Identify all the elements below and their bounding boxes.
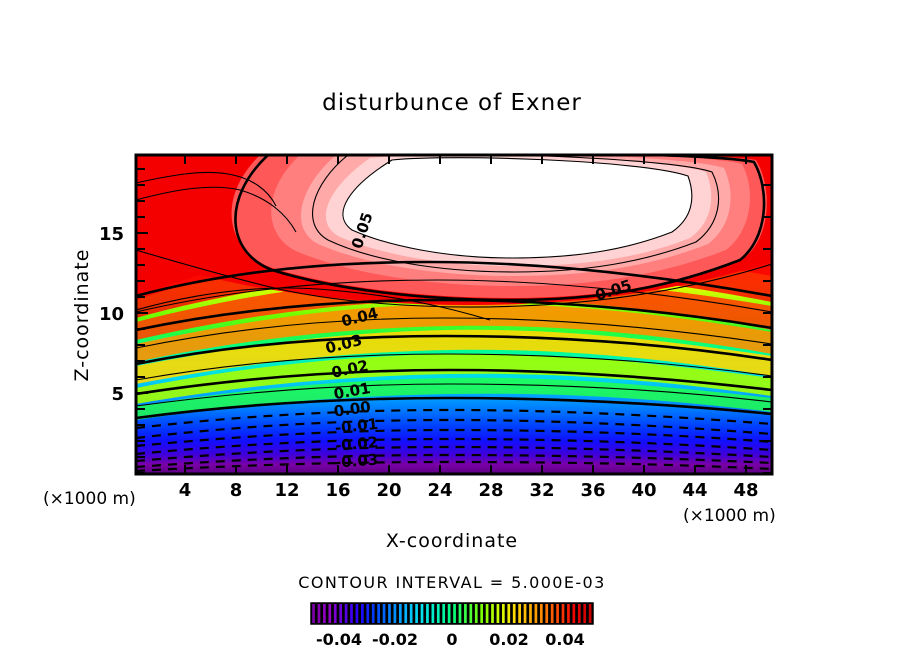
colorbar-band	[350, 604, 353, 623]
x-tick-label: 24	[427, 480, 452, 501]
x-tick-labels: 4 8 12 16 20 24 28 32 36 40 44 48	[179, 480, 759, 501]
colorbar-band	[583, 604, 586, 623]
contour-label--0.030: -0.03	[334, 451, 378, 472]
colorbar-band	[475, 604, 478, 623]
y-tick-label: 10	[99, 304, 124, 325]
y-tick-labels: 5 10 15	[99, 224, 124, 405]
colorbar-band	[518, 604, 521, 623]
colorbar-band	[323, 604, 326, 623]
colorbar-tick-label: 0	[446, 630, 457, 649]
colorbar-band	[318, 604, 321, 623]
colorbar-band	[334, 604, 337, 623]
colorbar-band	[399, 604, 402, 623]
colorbar-band	[507, 604, 510, 623]
colorbar-band	[361, 604, 364, 623]
colorbar-band	[562, 604, 565, 623]
colorbar-band	[339, 604, 342, 623]
colorbar-band	[502, 604, 505, 623]
colorbar-band	[486, 604, 489, 623]
colorbar-band	[432, 604, 435, 623]
colorbar-band	[529, 604, 532, 623]
colorbar-band	[345, 604, 348, 623]
x-tick-label: 28	[478, 480, 503, 501]
colorbar-band	[356, 604, 359, 623]
colorbar-band	[366, 604, 369, 623]
x-tick-label: 12	[274, 480, 299, 501]
colorbar-band	[383, 604, 386, 623]
colorbar-band	[480, 604, 483, 623]
colorbar-band	[573, 604, 576, 623]
colorbar-band	[328, 604, 331, 623]
colorbar-band	[567, 604, 570, 623]
colorbar-band	[442, 604, 445, 623]
colorbar-band	[421, 604, 424, 623]
colorbar-band	[437, 604, 440, 623]
colorbar-band	[372, 604, 375, 623]
y-tick-label: 15	[99, 224, 124, 245]
colorbar-band	[491, 604, 494, 623]
figure-canvas: disturbunce of Exner	[0, 0, 904, 654]
colorbar-band	[540, 604, 543, 623]
colorbar-background	[311, 603, 593, 624]
x-tick-label: 36	[580, 480, 605, 501]
colorbar-tick-labels: -0.04 -0.02 0 0.02 0.04	[316, 630, 585, 649]
x-tick-label: 32	[529, 480, 554, 501]
colorbar-band	[448, 604, 451, 623]
x-tick-label: 44	[682, 480, 707, 501]
y-axis-unit-label: (×1000 m)	[43, 489, 136, 509]
x-tick-label: 20	[376, 480, 401, 501]
colorbar-band	[551, 604, 554, 623]
colorbar-band	[388, 604, 391, 623]
colorbar-tick-label: 0.02	[489, 630, 528, 649]
colorbar-title: CONTOUR INTERVAL = 5.000E-03	[298, 573, 605, 592]
plot-area: 0.05 0.05 0.04 0.03 0.02 0.01 0.00 -0.01…	[136, 152, 772, 474]
colorbar-band	[312, 604, 315, 623]
colorbar-band	[556, 604, 559, 623]
colorbar-band	[513, 604, 516, 623]
colorbar-tick-label: -0.04	[316, 630, 362, 649]
chart-title: disturbunce of Exner	[322, 90, 582, 116]
colorbar-band	[394, 604, 397, 623]
colorbar-band	[545, 604, 548, 623]
colorbar-band	[404, 604, 407, 623]
colorbar-band	[524, 604, 527, 623]
x-tick-label: 8	[230, 480, 243, 501]
x-tick-label: 16	[325, 480, 350, 501]
y-tick-label: 5	[111, 384, 124, 405]
colorbar-band	[426, 604, 429, 623]
contour-plot-figure: disturbunce of Exner	[0, 0, 904, 654]
colorbar-band	[497, 604, 500, 623]
y-axis-title: Z-coordinate	[71, 249, 93, 382]
colorbar-tick-label: -0.02	[372, 630, 418, 649]
x-tick-label: 40	[631, 480, 656, 501]
colorbar	[311, 603, 593, 624]
colorbar-band	[535, 604, 538, 623]
colorbar-band	[415, 604, 418, 623]
colorbar-band	[377, 604, 380, 623]
x-tick-label: 48	[733, 480, 758, 501]
x-axis-title: X-coordinate	[386, 530, 518, 552]
colorbar-tick-label: 0.04	[545, 630, 584, 649]
colorbar-band	[453, 604, 456, 623]
colorbar-band	[464, 604, 467, 623]
x-tick-label: 4	[179, 480, 192, 501]
colorbar-band	[459, 604, 462, 623]
colorbar-band	[410, 604, 413, 623]
colorbar-band	[578, 604, 581, 623]
x-axis-unit-label: (×1000 m)	[683, 506, 776, 526]
colorbar-band	[589, 604, 592, 623]
colorbar-band	[469, 604, 472, 623]
